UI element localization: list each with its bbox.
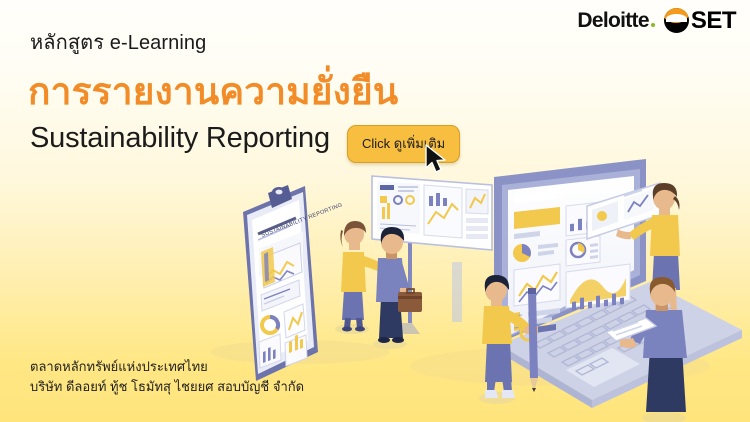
cta-container: Click ดูเพิ่มเติม <box>347 125 460 163</box>
set-mark-icon <box>664 8 689 33</box>
brand-logo-bar: Deloitte SET <box>577 8 736 33</box>
course-eyebrow: หลักสูตร e-Learning <box>30 26 206 58</box>
page-subtitle: Sustainability Reporting <box>30 122 330 155</box>
footer-line-deloitte: บริษัท ดีลอยท์ ทู้ช โธมัทสุ ไชยยศ สอบบัญ… <box>30 377 304 397</box>
deloitte-dot-icon <box>651 23 655 27</box>
decorative-panel <box>452 262 462 322</box>
deloitte-logo: Deloitte <box>577 10 654 31</box>
e-learning-promo-banner: SUSTAINABILITY REPORTING <box>0 0 750 422</box>
organisation-footer: ตลาดหลักทรัพย์แห่งประเทศไทย บริษัท ดีลอย… <box>30 357 304 396</box>
deloitte-wordmark: Deloitte <box>577 9 648 32</box>
set-wordmark: SET <box>691 9 736 33</box>
page-title: การรายงานความยั่งยืน <box>28 62 398 121</box>
footer-line-set: ตลาดหลักทรัพย์แห่งประเทศไทย <box>30 357 304 377</box>
set-logo: SET <box>664 8 736 33</box>
click-more-button[interactable]: Click ดูเพิ่มเติม <box>347 125 460 163</box>
